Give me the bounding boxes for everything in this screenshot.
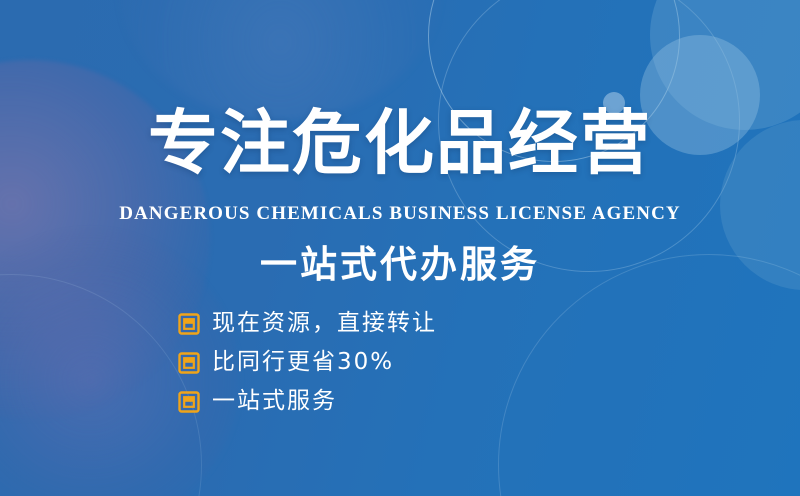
document-check-icon <box>178 391 200 413</box>
list-item-label: 比同行更省30% <box>212 351 394 374</box>
banner-content: 专注危化品经营 DANGEROUS CHEMICALS BUSINESS LIC… <box>0 0 800 496</box>
list-item: 现在资源，直接转让 <box>178 312 437 335</box>
subtitle-chinese: 一站式代办服务 <box>0 245 800 286</box>
document-check-icon <box>178 352 200 374</box>
document-check-icon <box>178 313 200 335</box>
list-item-label: 现在资源，直接转让 <box>212 312 437 335</box>
list-item: 一站式服务 <box>178 390 437 413</box>
promo-banner: 专注危化品经营 DANGEROUS CHEMICALS BUSINESS LIC… <box>0 0 800 496</box>
headline: 专注危化品经营 <box>0 108 800 178</box>
list-item-label: 一站式服务 <box>212 390 337 413</box>
subtitle-english: DANGEROUS CHEMICALS BUSINESS LICENSE AGE… <box>0 203 800 225</box>
feature-list: 现在资源，直接转让 比同行更省30% <box>178 312 437 413</box>
list-item: 比同行更省30% <box>178 351 437 374</box>
